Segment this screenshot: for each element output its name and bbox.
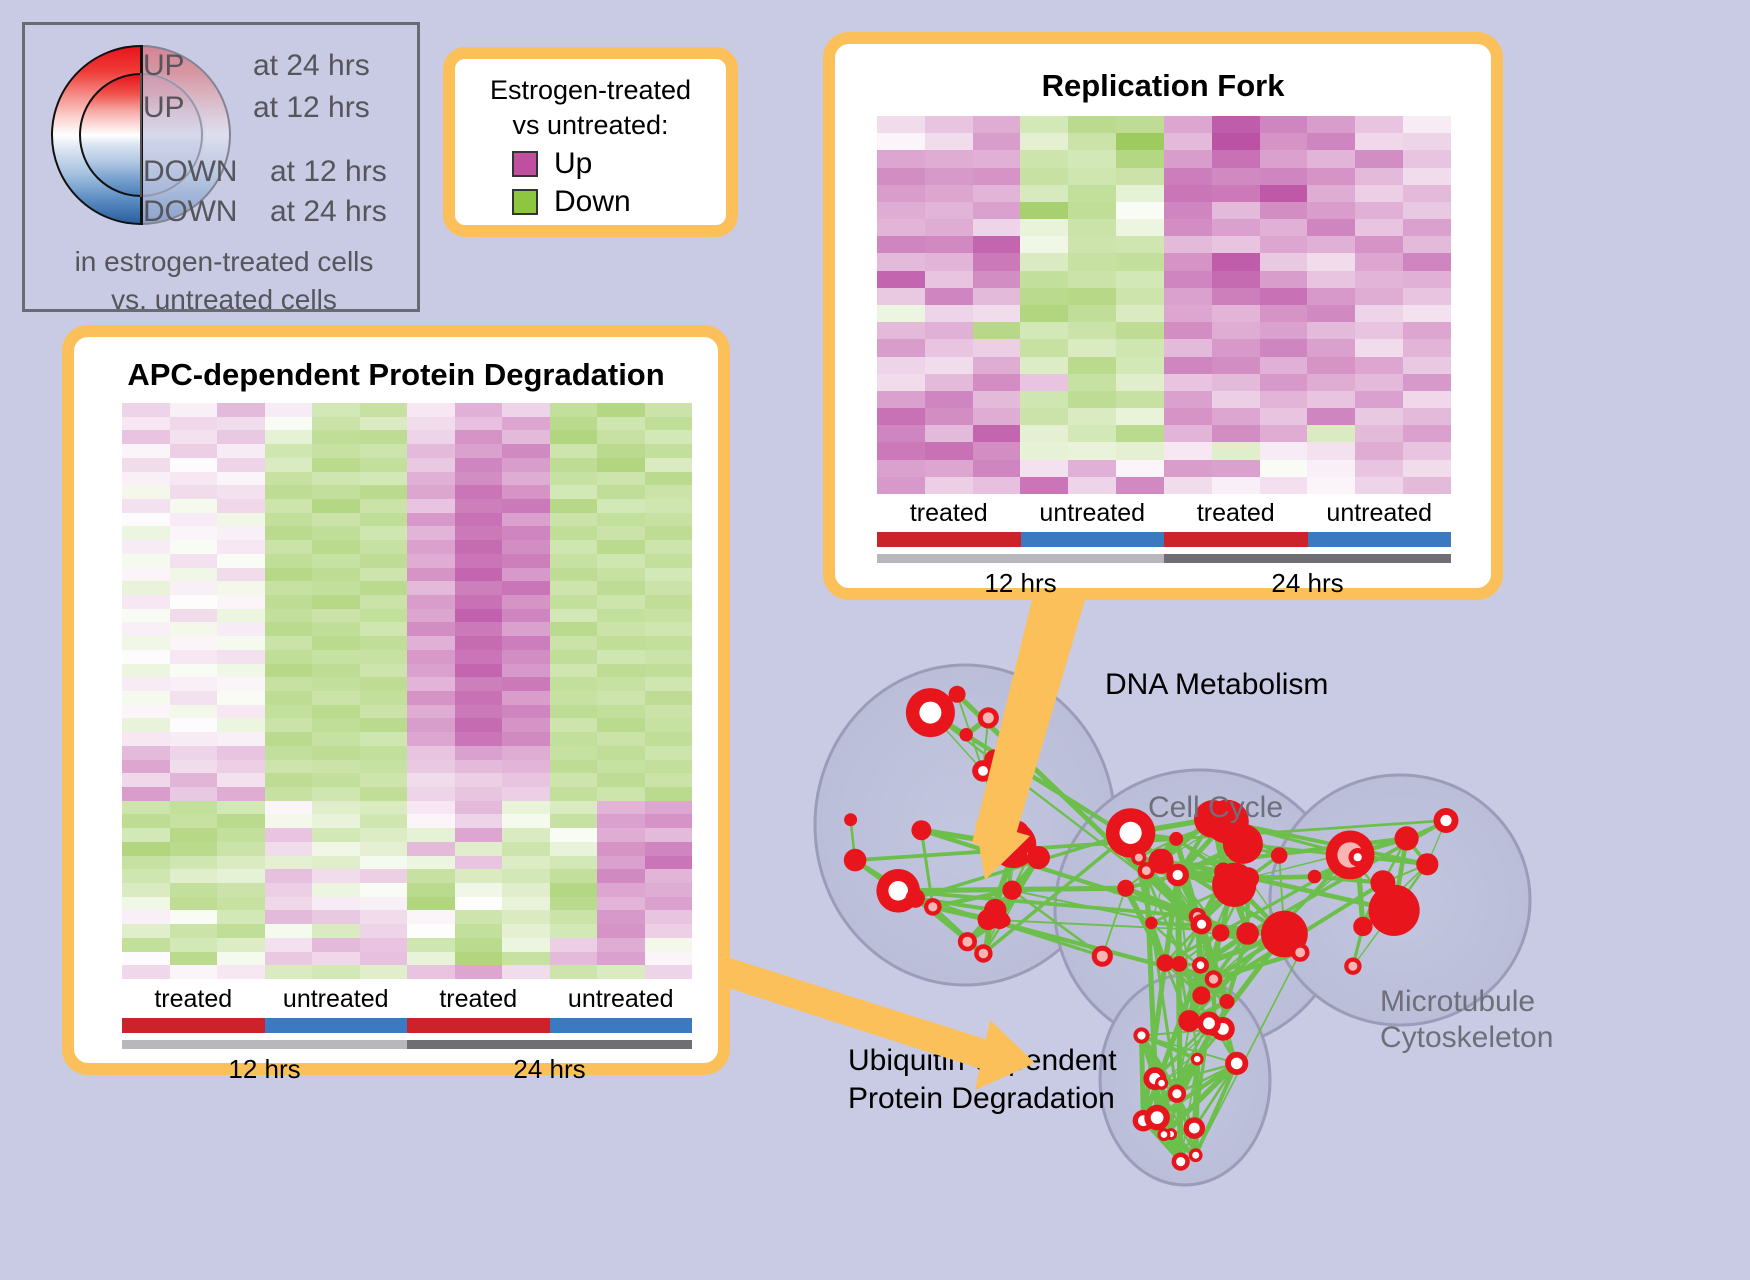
heatmap-cell — [360, 403, 408, 417]
heatmap-cell — [597, 650, 645, 664]
heatmap-cell — [1260, 357, 1308, 374]
heatmap-cell — [170, 746, 218, 760]
heatmap-cell — [1020, 271, 1068, 288]
heatmap-cell — [645, 444, 693, 458]
heatmap-cell — [645, 910, 693, 924]
network-node-center — [1440, 815, 1451, 826]
heatmap-cell — [312, 952, 360, 966]
heatmap-cell — [360, 691, 408, 705]
heatmap-cell — [645, 554, 693, 568]
heatmap-cell — [925, 442, 973, 459]
heatmap-cell — [455, 924, 503, 938]
heatmap-cell — [502, 650, 550, 664]
heatmap-cell — [407, 787, 455, 801]
legend-up-24-label: UP — [143, 49, 184, 83]
heatmap-cell — [312, 568, 360, 582]
heatmap-cell — [217, 869, 265, 883]
heatmap-cell — [645, 622, 693, 636]
network-node — [844, 849, 867, 872]
heatmap-cell — [455, 718, 503, 732]
heatmap-cell — [265, 526, 313, 540]
heatmap-cell — [265, 430, 313, 444]
network-node-center — [1194, 1056, 1200, 1062]
heatmap-cell — [407, 485, 455, 499]
heatmap-cell — [550, 910, 598, 924]
network-node-center — [1161, 1131, 1168, 1138]
heatmap-cell — [502, 965, 550, 979]
heatmap-cell — [925, 357, 973, 374]
legend-down-12-time: at 12 hrs — [270, 155, 387, 189]
heatmap-cell — [122, 540, 170, 554]
heatmap-cell — [645, 485, 693, 499]
heatmap-cell — [645, 828, 693, 842]
heatmap-cell — [1307, 442, 1355, 459]
heatmap-cell — [1164, 322, 1212, 339]
heatmap-cell — [407, 924, 455, 938]
network-node-center — [1172, 1089, 1181, 1098]
heatmap-cell — [1020, 236, 1068, 253]
colorbar-legend-footer: in estrogen-treated cells vs. untreated … — [25, 243, 423, 319]
heatmap-cell — [877, 133, 925, 150]
heatmap-cell — [597, 403, 645, 417]
colorbar-footer-line1: in estrogen-treated cells — [25, 243, 423, 281]
heatmap-cell — [502, 499, 550, 513]
heatmap-cell — [877, 460, 925, 477]
heatmap-cell — [597, 814, 645, 828]
heatmap-cell — [455, 732, 503, 746]
heatmap-cell — [1164, 442, 1212, 459]
heatmap-cell — [360, 952, 408, 966]
heatmap-cell — [1260, 253, 1308, 270]
heatmap-cell — [925, 460, 973, 477]
heatmap-cell — [1164, 116, 1212, 133]
heatmap-cell — [1403, 408, 1451, 425]
heatmap-cell — [502, 869, 550, 883]
heatmap-cell — [265, 787, 313, 801]
heatmap-cell — [1116, 116, 1164, 133]
heatmap-cell — [973, 357, 1021, 374]
heatmap-cell — [407, 636, 455, 650]
heatmap-cell — [455, 664, 503, 678]
network-node-center — [978, 766, 988, 776]
heatmap-cell — [455, 513, 503, 527]
heatmap-cell — [312, 760, 360, 774]
heatmap-cell — [1116, 185, 1164, 202]
heatmap-cell — [407, 540, 455, 554]
heatmap-cell — [455, 444, 503, 458]
treatment-segment-1 — [1021, 532, 1165, 547]
heatmap-cell — [645, 513, 693, 527]
heatmap-cell — [455, 403, 503, 417]
heatmap-cell — [217, 609, 265, 623]
treatment-segment-3 — [550, 1018, 693, 1033]
heatmap-cell — [312, 513, 360, 527]
heatmap-cell — [217, 472, 265, 486]
network-node-center — [1354, 853, 1362, 861]
heatmap-cell — [1307, 236, 1355, 253]
heatmap-cell — [1020, 425, 1068, 442]
heatmap-cell — [1212, 357, 1260, 374]
heatmap-cell — [877, 219, 925, 236]
heatmap-cell — [217, 842, 265, 856]
apc-time-bar — [122, 1040, 692, 1049]
heatmap-cell — [407, 705, 455, 719]
heatmap-cell — [550, 417, 598, 431]
heatmap-cell — [1068, 339, 1116, 356]
heatmap-cell — [122, 458, 170, 472]
heatmap-cell — [1212, 339, 1260, 356]
heatmap-cell — [265, 732, 313, 746]
network-node — [978, 909, 999, 930]
heatmap-cell — [312, 828, 360, 842]
heatmap-cell — [1355, 425, 1403, 442]
heatmap-cell — [502, 568, 550, 582]
replication-fork-title: Replication Fork — [835, 68, 1491, 104]
heatmap-cell — [360, 910, 408, 924]
heatmap-cell — [645, 595, 693, 609]
heatmap-cell — [597, 869, 645, 883]
heatmap-cell — [312, 787, 360, 801]
heatmap-cell — [645, 636, 693, 650]
heatmap-cell — [925, 116, 973, 133]
heatmap-cell — [973, 305, 1021, 322]
heatmap-cell — [1020, 168, 1068, 185]
heatmap-cell — [455, 568, 503, 582]
heatmap-cell — [550, 801, 598, 815]
heatmap-cell — [217, 485, 265, 499]
heatmap-cell — [1164, 425, 1212, 442]
heatmap-cell — [973, 391, 1021, 408]
heatmap-cell — [265, 595, 313, 609]
heatmap-cell — [265, 472, 313, 486]
heatmap-cell — [645, 664, 693, 678]
heatmap-cell — [1307, 339, 1355, 356]
heatmap-cell — [455, 869, 503, 883]
heatmap-cell — [407, 828, 455, 842]
heatmap-cell — [360, 650, 408, 664]
network-node — [1178, 1010, 1200, 1032]
heatmap-cell — [312, 622, 360, 636]
heatmap-cell — [360, 828, 408, 842]
heatmap-cell — [550, 787, 598, 801]
heatmap-cell — [877, 116, 925, 133]
network-node — [1027, 846, 1050, 869]
heatmap-cell — [122, 965, 170, 979]
heatmap-cell — [217, 801, 265, 815]
heatmap-cell — [502, 430, 550, 444]
heatmap-cell — [1068, 391, 1116, 408]
heatmap-cell — [217, 526, 265, 540]
heatmap-cell — [973, 322, 1021, 339]
heatmap-cell — [360, 430, 408, 444]
heatmap-cell — [597, 965, 645, 979]
heatmap-cell — [1355, 236, 1403, 253]
heatmap-cell — [455, 801, 503, 815]
heatmap-cell — [1307, 202, 1355, 219]
network-node-center — [979, 949, 989, 959]
network-node — [1220, 994, 1235, 1009]
heatmap-cell — [312, 664, 360, 678]
heatmap-cell — [502, 622, 550, 636]
network-node — [1006, 826, 1030, 850]
heatmap-cell — [122, 801, 170, 815]
heatmap-cell — [170, 938, 218, 952]
heatmap-cell — [1260, 305, 1308, 322]
heatmap-cell — [1164, 236, 1212, 253]
heatmap-cell — [1403, 425, 1451, 442]
heatmap-cell — [645, 458, 693, 472]
heatmap-cell — [645, 897, 693, 911]
heatmap-cell — [1068, 168, 1116, 185]
heatmap-cell — [217, 814, 265, 828]
heatmap-cell — [1212, 168, 1260, 185]
heatmap-cell — [265, 458, 313, 472]
heatmap-cell — [265, 636, 313, 650]
heatmap-cell — [973, 442, 1021, 459]
heatmap-cell — [550, 622, 598, 636]
heatmap-cell — [265, 554, 313, 568]
heatmap-cell — [455, 472, 503, 486]
heatmap-cell — [122, 910, 170, 924]
heatmap-cell — [455, 636, 503, 650]
heatmap-cell — [455, 554, 503, 568]
heatmap-cell — [170, 732, 218, 746]
heatmap-cell — [1164, 305, 1212, 322]
heatmap-cell — [170, 554, 218, 568]
heatmap-cell — [312, 718, 360, 732]
time-segment-1 — [1164, 554, 1451, 563]
heatmap-cell — [597, 664, 645, 678]
heatmap-cell — [645, 609, 693, 623]
heatmap-cell — [217, 718, 265, 732]
heatmap-cell — [1355, 150, 1403, 167]
heatmap-cell — [877, 253, 925, 270]
heatmap-cell — [170, 485, 218, 499]
replication-fork-heatmap — [877, 116, 1451, 494]
heatmap-cell — [1355, 357, 1403, 374]
heatmap-cell — [550, 924, 598, 938]
heatmap-cell — [925, 408, 973, 425]
heatmap-cell — [1212, 202, 1260, 219]
heatmap-cell — [597, 581, 645, 595]
heatmap-cell — [170, 773, 218, 787]
heatmap-cell — [1020, 391, 1068, 408]
heatmap-cell — [122, 746, 170, 760]
heatmap-cell — [502, 595, 550, 609]
heatmap-cell — [217, 622, 265, 636]
heatmap-cell — [502, 952, 550, 966]
updown-legend-title-line2: vs untreated: — [455, 108, 726, 143]
heatmap-cell — [973, 150, 1021, 167]
heatmap-cell — [502, 910, 550, 924]
heatmap-cell — [122, 883, 170, 897]
heatmap-cell — [1212, 477, 1260, 494]
heatmap-cell — [550, 636, 598, 650]
heatmap-cell — [1020, 288, 1068, 305]
heatmap-cell — [1164, 374, 1212, 391]
heatmap-cell — [550, 718, 598, 732]
heatmap-cell — [170, 691, 218, 705]
heatmap-cell — [550, 883, 598, 897]
heatmap-cell — [122, 472, 170, 486]
up-color-swatch — [512, 151, 538, 177]
heatmap-cell — [122, 787, 170, 801]
heatmap-cell — [550, 760, 598, 774]
heatmap-cell — [1116, 460, 1164, 477]
heatmap-cell — [645, 773, 693, 787]
heatmap-cell — [122, 691, 170, 705]
treatment-segment-1 — [265, 1018, 408, 1033]
heatmap-cell — [170, 417, 218, 431]
heatmap-cell — [645, 403, 693, 417]
heatmap-cell — [645, 526, 693, 540]
label-ubiquitin: Ubiquitin-dependent Protein Degradation — [848, 1042, 1117, 1118]
heatmap-cell — [407, 718, 455, 732]
heatmap-cell — [1307, 477, 1355, 494]
heatmap-cell — [1068, 288, 1116, 305]
heatmap-cell — [407, 856, 455, 870]
heatmap-cell — [973, 339, 1021, 356]
heatmap-cell — [645, 952, 693, 966]
heatmap-cell — [925, 202, 973, 219]
heatmap-cell — [973, 219, 1021, 236]
label-ubiquitin-line1: Ubiquitin-dependent — [848, 1042, 1117, 1080]
heatmap-cell — [407, 417, 455, 431]
heatmap-cell — [1068, 357, 1116, 374]
network-node-center — [1120, 822, 1142, 844]
heatmap-cell — [1116, 357, 1164, 374]
heatmap-cell — [645, 787, 693, 801]
heatmap-cell — [1212, 288, 1260, 305]
heatmap-cell — [597, 773, 645, 787]
heatmap-cell — [360, 609, 408, 623]
heatmap-cell — [550, 965, 598, 979]
heatmap-cell — [170, 801, 218, 815]
heatmap-cell — [265, 828, 313, 842]
sample-label: untreated — [265, 985, 408, 1014]
heatmap-cell — [455, 540, 503, 554]
heatmap-cell — [265, 910, 313, 924]
heatmap-cell — [217, 828, 265, 842]
heatmap-cell — [265, 664, 313, 678]
heatmap-cell — [455, 965, 503, 979]
updown-legend-panel: Estrogen-treated vs untreated: Up Down — [443, 47, 738, 237]
heatmap-cell — [360, 773, 408, 787]
heatmap-cell — [550, 869, 598, 883]
heatmap-cell — [645, 581, 693, 595]
heatmap-cell — [597, 828, 645, 842]
network-node — [1223, 824, 1263, 864]
heatmap-cell — [312, 485, 360, 499]
heatmap-cell — [455, 952, 503, 966]
heatmap-cell — [1164, 253, 1212, 270]
heatmap-cell — [1403, 357, 1451, 374]
colorbar-footer-line2: vs. untreated cells — [25, 281, 423, 319]
network-node-center — [1135, 854, 1143, 862]
heatmap-cell — [122, 622, 170, 636]
heatmap-cell — [1212, 391, 1260, 408]
heatmap-cell — [1068, 116, 1116, 133]
heatmap-cell — [925, 219, 973, 236]
heatmap-cell — [973, 253, 1021, 270]
heatmap-cell — [122, 938, 170, 952]
heatmap-cell — [597, 417, 645, 431]
heatmap-cell — [1307, 185, 1355, 202]
network-node-center — [1097, 951, 1108, 962]
heatmap-cell — [407, 581, 455, 595]
heatmap-cell — [122, 403, 170, 417]
network-node-center — [888, 881, 908, 901]
heatmap-cell — [597, 732, 645, 746]
heatmap-cell — [312, 636, 360, 650]
heatmap-cell — [645, 965, 693, 979]
label-microtubule: Microtubule Cytoskeleton — [1380, 984, 1553, 1056]
heatmap-cell — [312, 526, 360, 540]
heatmap-cell — [502, 664, 550, 678]
heatmap-cell — [1403, 288, 1451, 305]
heatmap-cell — [312, 773, 360, 787]
updown-legend-title-line1: Estrogen-treated — [455, 73, 726, 108]
network-node — [949, 686, 966, 703]
heatmap-cell — [877, 202, 925, 219]
heatmap-cell — [1212, 185, 1260, 202]
treatment-segment-0 — [122, 1018, 265, 1033]
heatmap-cell — [312, 869, 360, 883]
heatmap-cell — [1116, 236, 1164, 253]
heatmap-cell — [1068, 305, 1116, 322]
heatmap-cell — [122, 732, 170, 746]
heatmap-cell — [597, 746, 645, 760]
heatmap-cell — [1403, 460, 1451, 477]
heatmap-cell — [502, 718, 550, 732]
heatmap-cell — [1355, 219, 1403, 236]
heatmap-cell — [1020, 219, 1068, 236]
heatmap-cell — [1307, 408, 1355, 425]
heatmap-cell — [1355, 133, 1403, 150]
heatmap-cell — [502, 732, 550, 746]
heatmap-cell — [597, 430, 645, 444]
heatmap-cell — [1068, 150, 1116, 167]
heatmap-cell — [550, 499, 598, 513]
heatmap-cell — [1260, 322, 1308, 339]
heatmap-cell — [312, 581, 360, 595]
heatmap-cell — [265, 568, 313, 582]
heatmap-cell — [407, 513, 455, 527]
heatmap-cell — [217, 910, 265, 924]
heatmap-cell — [360, 856, 408, 870]
heatmap-cell — [597, 622, 645, 636]
heatmap-cell — [1307, 219, 1355, 236]
heatmap-cell — [170, 664, 218, 678]
heatmap-cell — [170, 869, 218, 883]
heatmap-cell — [1260, 391, 1308, 408]
heatmap-cell — [1355, 374, 1403, 391]
time-segment-0 — [877, 554, 1164, 563]
heatmap-cell — [455, 691, 503, 705]
label-microtubule-line2: Cytoskeleton — [1380, 1020, 1553, 1056]
heatmap-cell — [925, 477, 973, 494]
heatmap-cell — [1355, 391, 1403, 408]
network-node — [906, 889, 925, 908]
heatmap-cell — [217, 540, 265, 554]
network-node — [1192, 986, 1210, 1004]
sample-label: treated — [877, 499, 1021, 528]
heatmap-cell — [265, 417, 313, 431]
heatmap-cell — [312, 842, 360, 856]
heatmap-cell — [973, 185, 1021, 202]
heatmap-cell — [1116, 374, 1164, 391]
heatmap-cell — [1068, 425, 1116, 442]
